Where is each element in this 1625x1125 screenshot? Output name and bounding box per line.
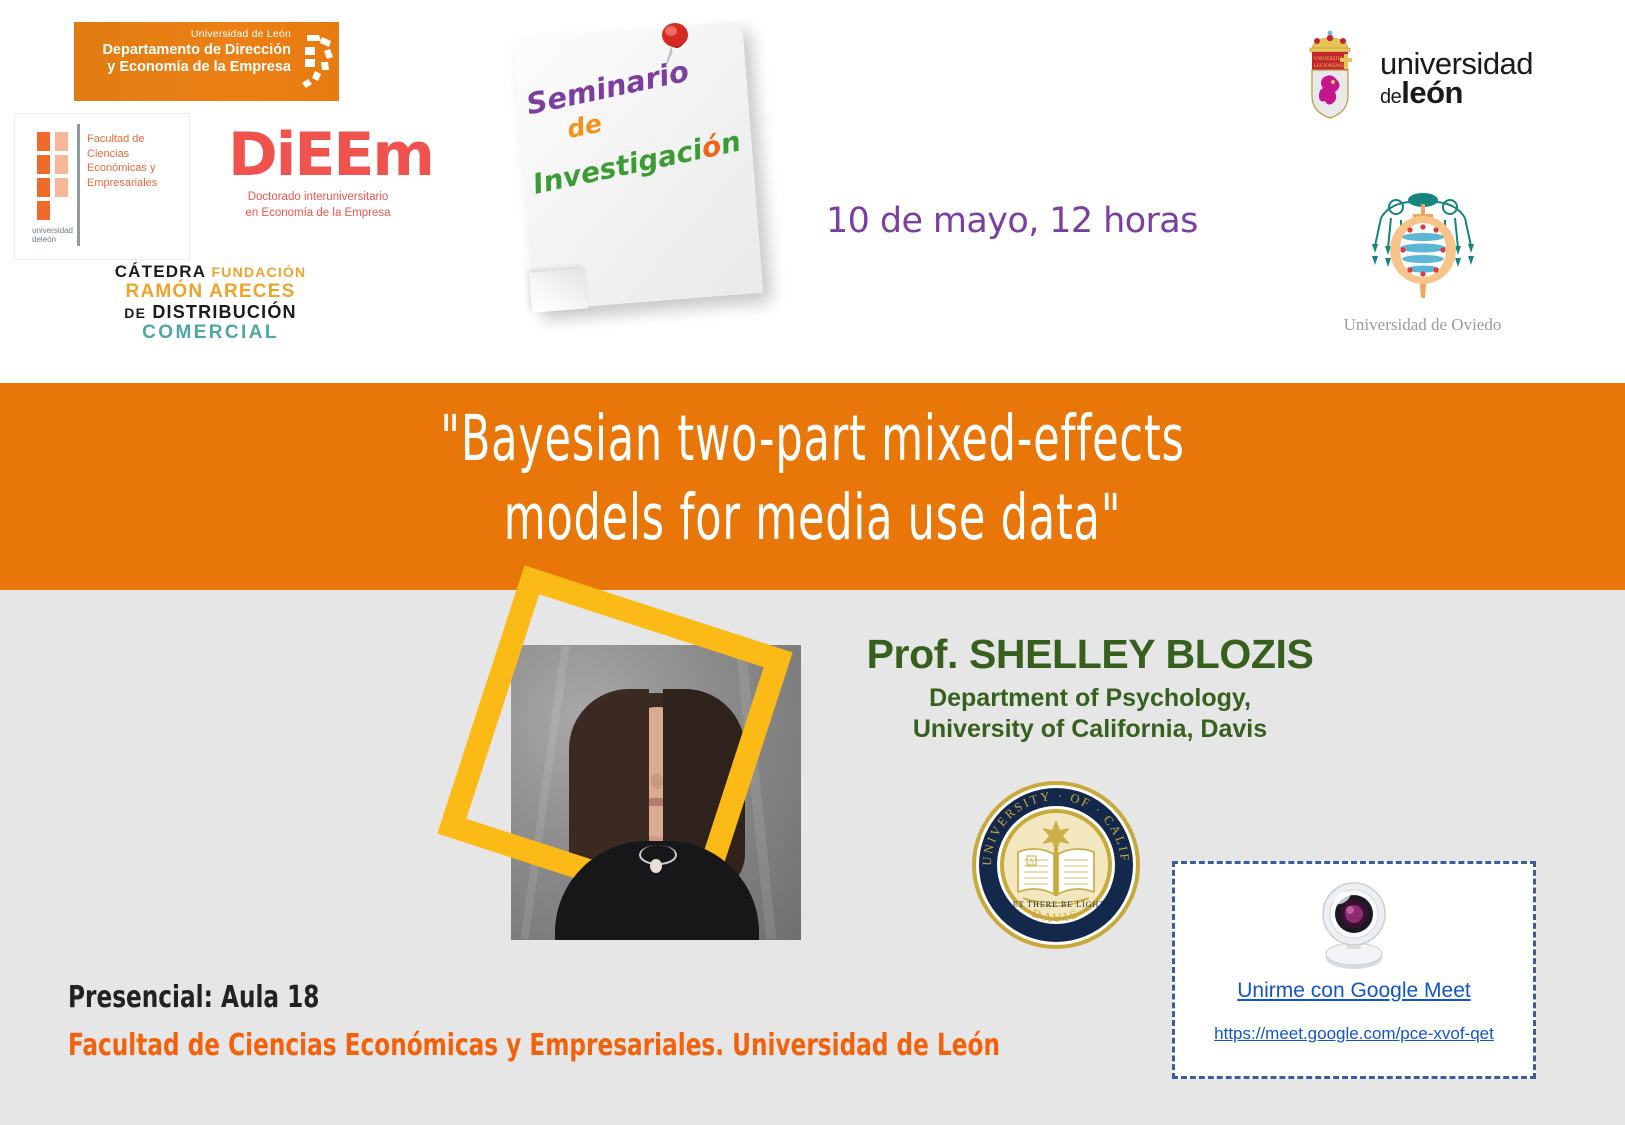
seminar-date: 10 de mayo, 12 horas — [826, 201, 1198, 241]
facultad-divider — [77, 124, 80, 246]
universidad-leon-wordmark: universidad deleón — [1380, 50, 1533, 107]
title-band: "Bayesian two-part mixed-effects models … — [0, 383, 1625, 590]
leon-coat-of-arms-icon: VNIVERSITAS LEGIONENSIS — [1288, 30, 1372, 125]
facultad-line4: Empresariales — [87, 176, 157, 191]
facultad-logo-text: Facultad de Ciencias Económicas y Empres… — [87, 132, 157, 190]
pushpin-icon — [657, 18, 693, 70]
facultad-ul-line2: deleón — [32, 236, 73, 245]
oviedo-caption: Universidad de Oviedo — [1330, 315, 1515, 335]
dieem-subtitle: Doctorado interuniversitario en Economía… — [228, 190, 408, 221]
speaker-name: Prof. SHELLEY BLOZIS — [820, 632, 1360, 676]
speaker-dept-line2: University of California, Davis — [820, 714, 1360, 745]
catedra-row2: RAMÓN ARECES — [108, 282, 313, 302]
dieem-logo: DiEEm Doctorado interuniversitario en Ec… — [228, 128, 408, 256]
departamento-logo-line1: Universidad de León — [102, 28, 291, 40]
svg-text:LEGIONENSIS: LEGIONENSIS — [1314, 64, 1347, 69]
catedra-row4: COMERCIAL — [108, 323, 313, 343]
departamento-logo-line2: Departamento de Dirección — [102, 42, 291, 59]
logo-header-band: Universidad de León Departamento de Dire… — [0, 0, 1625, 383]
seminar-title: "Bayesian two-part mixed-effects models … — [195, 399, 1430, 558]
google-meet-link[interactable]: Unirme con Google Meet — [1175, 979, 1533, 1003]
universidad-oviedo-logo: Universidad de Oviedo — [1330, 190, 1515, 335]
catedra-word-fundacion: FUNDACIÓN — [212, 264, 307, 280]
note-word-de: de — [564, 109, 604, 145]
webcam-icon — [1314, 880, 1394, 972]
departamento-logo-line3: y Economía de la Empresa — [102, 59, 291, 76]
dieem-sub-line1: Doctorado interuniversitario — [228, 190, 408, 206]
ule-line2: deleón — [1380, 79, 1533, 108]
venue-info: Presencial: Aula 18 Facultad de Ciencias… — [68, 980, 1152, 1063]
speaker-affiliation: Department of Psychology, University of … — [820, 683, 1360, 744]
seminar-title-line1: "Bayesian two-part mixed-effects — [195, 399, 1430, 478]
catedra-areces-logo: CÁTEDRA FUNDACIÓN RAMÓN ARECES DE DISTRI… — [108, 263, 313, 343]
uc-davis-seal-icon: THE · UNIVERSITY · OF · CALIFORNIA · DAV… — [971, 780, 1141, 950]
google-meet-url[interactable]: https://meet.google.com/pce-xvof-qet — [1175, 1024, 1533, 1044]
departamento-logo: Universidad de León Departamento de Dire… — [74, 22, 339, 101]
speaker-dept-line1: Department of Psychology, — [820, 683, 1360, 714]
facultad-line3: Económicas y — [87, 161, 157, 176]
dieem-wordmark: DiEEm — [228, 128, 408, 182]
facultad-universidad-mark: universidad deleón — [32, 227, 73, 245]
seminar-poster: Universidad de León Departamento de Dire… — [0, 0, 1625, 1125]
catedra-word-de: DE — [124, 305, 146, 321]
venue-room: Presencial: Aula 18 — [68, 980, 1000, 1015]
departamento-logo-text: Universidad de León Departamento de Dire… — [102, 28, 291, 76]
speaker-info: Prof. SHELLEY BLOZIS Department of Psych… — [820, 632, 1360, 744]
catedra-word-catedra: CÁTEDRA — [115, 262, 206, 281]
svg-text:LET THERE BE LIGHT: LET THERE BE LIGHT — [1007, 900, 1105, 909]
oviedo-crest-icon — [1358, 190, 1488, 302]
google-meet-box[interactable]: Unirme con Google Meet https://meet.goog… — [1172, 861, 1536, 1079]
spiral-mark-icon — [291, 33, 333, 89]
catedra-row3: DE DISTRIBUCIÓN — [108, 303, 313, 322]
svg-text:A: A — [1029, 858, 1034, 866]
sticky-note: Seminario de Investigación — [505, 12, 805, 342]
dieem-sub-line2: en Economía de la Empresa — [228, 206, 408, 222]
facultad-logo: Facultad de Ciencias Económicas y Empres… — [14, 113, 190, 260]
catedra-word-distribucion: DISTRIBUCIÓN — [152, 302, 296, 322]
facultad-line1: Facultad de — [87, 132, 157, 147]
seminar-title-line2: models for media use data" — [195, 478, 1430, 557]
catedra-row1: CÁTEDRA FUNDACIÓN — [108, 263, 313, 281]
facultad-line2: Ciencias — [87, 147, 157, 162]
universidad-leon-logo: VNIVERSITAS LEGIONENSIS universidad dele… — [1288, 30, 1538, 125]
facultad-bars-mark — [37, 132, 71, 220]
sticky-note-text: Seminario de Investigación — [502, 64, 737, 186]
venue-faculty: Facultad de Ciencias Económicas y Empres… — [68, 1028, 1000, 1063]
